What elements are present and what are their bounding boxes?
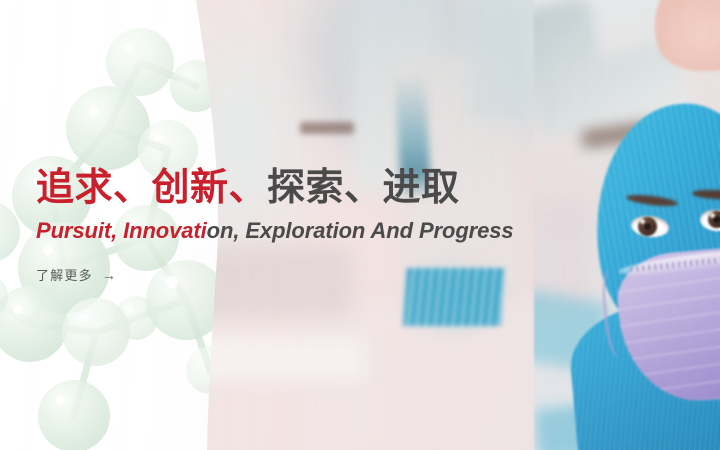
subtitle-accent-text: Pursuit, Innovati: [36, 218, 207, 243]
hero-copy: 追求、创新、探索、进取 Pursuit, Innovation, Explora…: [36, 168, 676, 285]
learn-more-link[interactable]: 了解更多 →: [36, 265, 117, 284]
background-lab-equipment: [300, 122, 354, 134]
technician-eye-glint: [710, 213, 715, 218]
page-subtitle: Pursuit, Innovation, Exploration And Pro…: [36, 218, 676, 243]
headline-accent-text: 追求、创新、: [36, 167, 267, 209]
background-lab-equipment: [470, 0, 530, 120]
arrow-right-icon: →: [102, 268, 117, 282]
learn-more-label: 了解更多: [36, 265, 93, 284]
hero-banner: 追求、创新、探索、进取 Pursuit, Innovation, Explora…: [0, 0, 720, 450]
headline-dark-text: 探索、进取: [267, 167, 460, 209]
subtitle-dark-text: on, Exploration And Progress: [207, 218, 514, 243]
page-title: 追求、创新、探索、进取: [36, 168, 676, 210]
